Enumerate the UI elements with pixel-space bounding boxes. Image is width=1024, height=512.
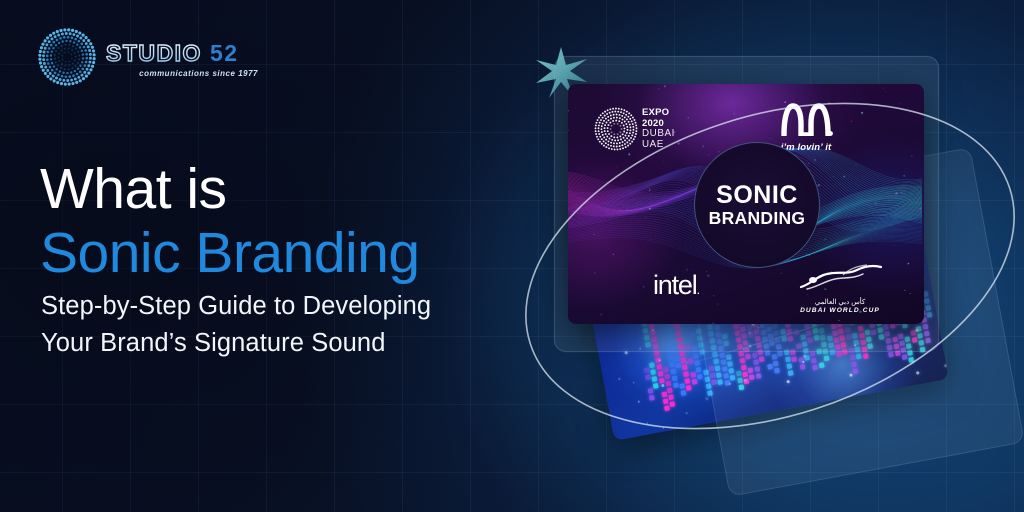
studio52-wordmark: STUDIO 52 xyxy=(106,41,258,67)
hero-artwork: EXPO 2020 DUBAI UAE i’m lovin’ it intel. xyxy=(520,34,1024,494)
studio52-logo[interactable]: STUDIO 52 communications since 1977 xyxy=(38,25,268,89)
page-subtitle: Step-by-Step Guide to Developing Your Br… xyxy=(41,288,471,362)
studio52-wordmark-block: STUDIO 52 communications since 1977 xyxy=(106,37,258,78)
headline-line-1: What is xyxy=(40,158,510,220)
svg-text:52: 52 xyxy=(210,41,239,66)
svg-text:STUDIO: STUDIO xyxy=(106,41,202,66)
headline-line-2: Sonic Branding xyxy=(40,220,510,286)
studio52-tagline: communications since 1977 xyxy=(111,69,258,78)
banner-canvas: STUDIO 52 communications since 1977 What… xyxy=(0,0,1024,512)
page-title: What is Sonic Branding xyxy=(40,158,510,286)
radial-dot-burst-icon xyxy=(38,28,96,86)
orbit-ellipse-icon xyxy=(490,44,1024,484)
